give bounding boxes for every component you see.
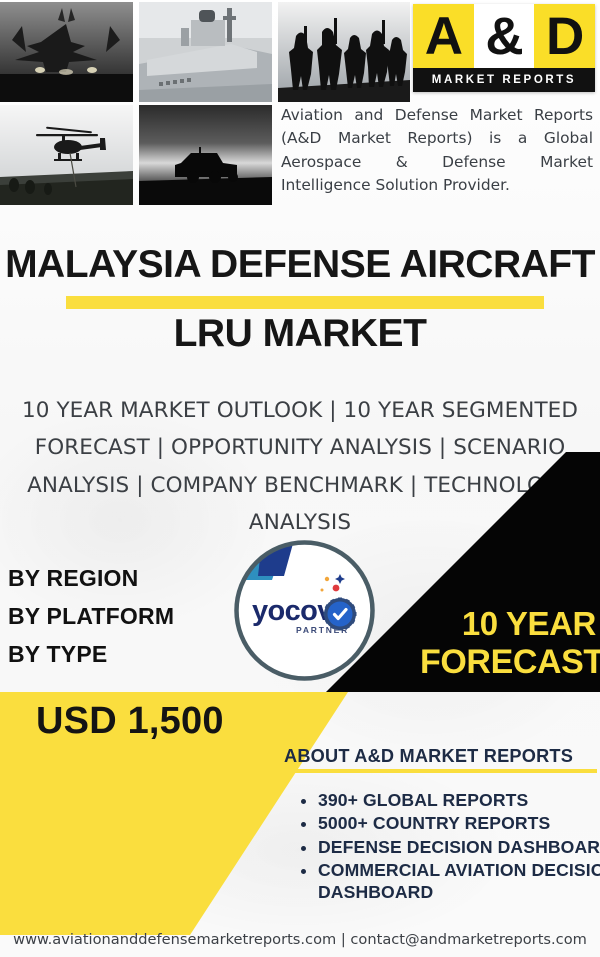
footer-contact: www.aviationanddefensemarketreports.com …	[0, 931, 600, 948]
company-intro-paragraph: Aviation and Defense Market Reports (A&D…	[281, 104, 593, 198]
logo-letter-blocks: A & D	[413, 4, 595, 68]
about-bullet-global-reports: 390+ GLOBAL REPORTS	[318, 789, 600, 811]
forecast-line1: 10 YEAR	[420, 606, 596, 643]
forecast-banner: 10 YEAR FORECAST	[420, 606, 596, 681]
segmentation-item-platform: BY PLATFORM	[8, 598, 174, 636]
fighter-jet-photo	[0, 2, 133, 102]
segmentation-item-region: BY REGION	[8, 560, 174, 598]
about-bullet-country-reports: 5000+ COUNTRY REPORTS	[318, 812, 600, 834]
logo-subtitle: MARKET REPORTS	[413, 68, 595, 92]
about-heading: ABOUT A&D MARKET REPORTS	[284, 746, 573, 767]
segmentation-item-type: BY TYPE	[8, 636, 174, 674]
logo-letter-d: D	[534, 4, 595, 68]
segmentation-list: BY REGION BY PLATFORM BY TYPE	[8, 560, 174, 674]
report-title-line2: LRU MARKET	[0, 312, 600, 356]
naval-ship-photo	[139, 2, 272, 102]
about-bullet-list: 390+ GLOBAL REPORTS 5000+ COUNTRY REPORT…	[296, 789, 600, 905]
soldiers-photo	[278, 2, 410, 102]
logo-letter-a: A	[413, 4, 474, 68]
helicopter-photo	[0, 105, 133, 205]
price-value: USD 1,500	[36, 700, 224, 743]
title-yellow-rule	[66, 296, 544, 309]
forecast-line2: FORECAST	[420, 643, 596, 681]
armored-vehicle-photo	[139, 105, 272, 205]
ad-market-reports-logo: A & D MARKET REPORTS	[413, 4, 595, 92]
yocova-partner-badge: yocova PARTNER	[232, 538, 377, 683]
poster-root: A & D MARKET REPORTS Aviation and Defens…	[0, 0, 600, 957]
about-bullet-defense-dashboard: DEFENSE DECISION DASHBOARD	[318, 836, 600, 858]
report-title-line1: MALAYSIA DEFENSE AIRCRAFT	[0, 243, 600, 287]
report-subtitle: 10 YEAR MARKET OUTLOOK | 10 YEAR SEGMENT…	[20, 392, 580, 542]
logo-letter-ampersand: &	[474, 4, 535, 68]
about-heading-underline	[284, 769, 597, 773]
about-bullet-commercial-dashboard: COMMERCIAL AVIATION DECISION DASHBOARD	[318, 859, 600, 904]
